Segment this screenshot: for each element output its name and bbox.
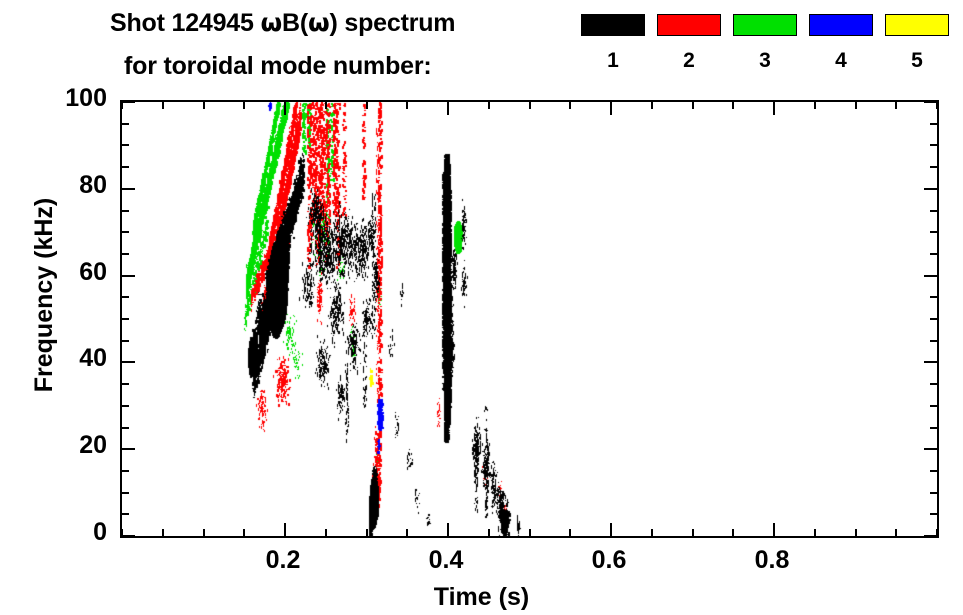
y-tick-right-100: [924, 101, 937, 103]
x-tick-0.7: [692, 529, 694, 536]
y-tick-20: [122, 448, 135, 450]
y-tick-90: [122, 144, 129, 146]
x-tick-0.8: [773, 523, 775, 536]
y-tick-right-55: [930, 296, 937, 298]
x-tick-top-0.7: [692, 102, 694, 109]
x-tick-label-0.4: 0.4: [401, 546, 491, 575]
y-tick-45: [122, 340, 129, 342]
x-tick-0.4: [447, 523, 449, 536]
y-tick-95: [122, 123, 129, 125]
x-tick-top-0.55: [569, 102, 571, 109]
y-tick-right-25: [930, 427, 937, 429]
y-tick-75: [122, 210, 129, 212]
y-tick-40: [122, 361, 135, 363]
x-tick-top-0.65: [651, 102, 653, 109]
omega-symbol-1: ω: [260, 8, 282, 37]
y-tick-right-45: [930, 340, 937, 342]
x-tick-top-0.15: [243, 102, 245, 109]
y-tick-80: [122, 188, 135, 190]
x-tick-top-0.1: [203, 102, 205, 109]
y-tick-right-80: [924, 188, 937, 190]
y-tick-10: [122, 492, 129, 494]
legend-entry-1[interactable]: 1: [581, 14, 645, 72]
y-tick-right-5: [930, 513, 937, 515]
x-tick-top-0: [121, 102, 123, 109]
y-tick-right-15: [930, 470, 937, 472]
x-tick-top-0.3: [366, 102, 368, 109]
y-tick-right-40: [924, 361, 937, 363]
omega-symbol-2: ω: [308, 8, 330, 37]
y-tick-55: [122, 296, 129, 298]
legend-swatch-3: [733, 14, 797, 36]
y-tick-70: [122, 231, 129, 233]
x-tick-0.75: [732, 529, 734, 536]
x-tick-top-0.8: [773, 102, 775, 115]
legend-swatch-2: [657, 14, 721, 36]
x-tick-0.3: [366, 529, 368, 536]
y-tick-30: [122, 405, 129, 407]
y-tick-5: [122, 513, 129, 515]
x-tick-0.05: [162, 529, 164, 536]
title-b-open: B(: [282, 9, 308, 37]
x-tick-top-0.5: [529, 102, 531, 109]
figure-root: Shot 124945 ωB(ω) spectrum for toroidal …: [0, 0, 963, 615]
x-tick-top-0.9: [855, 102, 857, 109]
y-tick-right-0: [924, 535, 937, 537]
y-tick-65: [122, 253, 129, 255]
legend-label-3: 3: [733, 50, 797, 72]
legend-label-4: 4: [809, 50, 873, 72]
x-axis-title: Time (s): [0, 583, 963, 612]
y-tick-label-100: 100: [17, 84, 107, 113]
y-tick-right-10: [930, 492, 937, 494]
x-tick-label-0.2: 0.2: [238, 546, 328, 575]
x-tick-0.9: [855, 529, 857, 536]
x-tick-top-0.45: [488, 102, 490, 109]
title-shot-text: Shot 124945: [110, 9, 260, 37]
x-tick-top-0.2: [284, 102, 286, 115]
y-tick-right-90: [930, 144, 937, 146]
x-tick-top-0.85: [814, 102, 816, 109]
legend-swatch-5: [885, 14, 949, 36]
x-tick-top-0.25: [325, 102, 327, 109]
y-tick-35: [122, 383, 129, 385]
x-tick-0.6: [610, 523, 612, 536]
legend-label-5: 5: [885, 50, 949, 72]
x-tick-0.5: [529, 529, 531, 536]
y-tick-right-30: [930, 405, 937, 407]
spectrogram-canvas: [122, 102, 937, 536]
x-tick-top-0.6: [610, 102, 612, 115]
y-tick-label-20: 20: [17, 431, 107, 460]
x-tick-0.2: [284, 523, 286, 536]
x-tick-0.85: [814, 529, 816, 536]
y-tick-25: [122, 427, 129, 429]
y-tick-label-60: 60: [17, 258, 107, 287]
y-tick-right-75: [930, 210, 937, 212]
y-tick-right-70: [930, 231, 937, 233]
x-tick-label-0.8: 0.8: [727, 546, 817, 575]
y-tick-right-65: [930, 253, 937, 255]
legend-swatch-4: [809, 14, 873, 36]
y-tick-label-80: 80: [17, 171, 107, 200]
legend-label-2: 2: [657, 50, 721, 72]
legend-swatch-1: [581, 14, 645, 36]
x-tick-0.25: [325, 529, 327, 536]
x-tick-0.45: [488, 529, 490, 536]
figure-title-line-1: Shot 124945 ωB(ω) spectrum: [110, 8, 455, 38]
y-tick-label-40: 40: [17, 344, 107, 373]
x-tick-0.95: [895, 529, 897, 536]
figure-title-line-2: for toroidal mode number:: [124, 52, 432, 81]
y-tick-right-35: [930, 383, 937, 385]
y-tick-label-0: 0: [17, 518, 107, 547]
y-tick-right-60: [924, 275, 937, 277]
x-tick-0.55: [569, 529, 571, 536]
plot-area: [120, 100, 939, 538]
x-tick-0.65: [651, 529, 653, 536]
x-tick-label-0.6: 0.6: [564, 546, 654, 575]
x-tick-top-1: [936, 102, 938, 109]
y-tick-right-50: [930, 318, 937, 320]
x-tick-top-0.35: [406, 102, 408, 109]
legend-label-1: 1: [581, 50, 645, 72]
y-tick-right-20: [924, 448, 937, 450]
x-tick-0.1: [203, 529, 205, 536]
y-tick-right-85: [930, 166, 937, 168]
title-spectrum-text: ) spectrum: [330, 9, 456, 37]
y-tick-right-95: [930, 123, 937, 125]
x-tick-top-0.4: [447, 102, 449, 115]
legend-entry-5[interactable]: 5: [885, 14, 949, 72]
y-tick-50: [122, 318, 129, 320]
y-tick-15: [122, 470, 129, 472]
legend-entry-2[interactable]: 2: [657, 14, 721, 72]
y-tick-100: [122, 101, 135, 103]
x-tick-0.35: [406, 529, 408, 536]
x-tick-top-0.75: [732, 102, 734, 109]
legend-entry-3[interactable]: 3: [733, 14, 797, 72]
y-tick-60: [122, 275, 135, 277]
y-tick-0: [122, 535, 135, 537]
x-tick-0.15: [243, 529, 245, 536]
legend-entry-4[interactable]: 4: [809, 14, 873, 72]
legend: 12345: [581, 14, 951, 90]
x-tick-top-0.95: [895, 102, 897, 109]
y-tick-85: [122, 166, 129, 168]
x-tick-top-0.05: [162, 102, 164, 109]
